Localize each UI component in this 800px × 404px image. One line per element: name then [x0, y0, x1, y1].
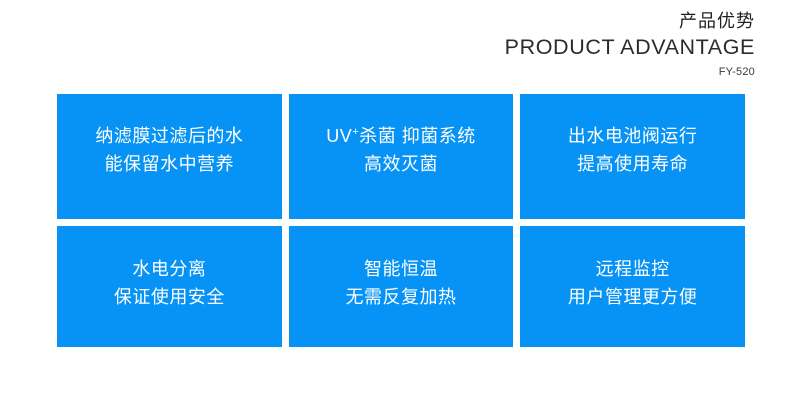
feature-card-line-1: 智能恒温	[364, 256, 438, 284]
feature-card-remote-monitoring[interactable]: 远程监控 用户管理更方便	[520, 226, 745, 347]
feature-card-line-2: 用户管理更方便	[568, 284, 698, 312]
header-block: 产品优势 PRODUCT ADVANTAGE FY-520	[505, 12, 755, 78]
feature-card-line-1: 水电分离	[132, 256, 206, 284]
uv-label: UV	[326, 126, 352, 146]
feature-card-smart-thermostat[interactable]: 智能恒温 无需反复加热	[289, 226, 514, 347]
feature-card-outlet-valve[interactable]: 出水电池阀运行 提高使用寿命	[520, 94, 745, 219]
feature-card-water-power-separation[interactable]: 水电分离 保证使用安全	[57, 226, 282, 347]
feature-card-line-2: 保证使用安全	[114, 284, 225, 312]
feature-card-line-1: UV+杀菌 抑菌系统	[326, 123, 475, 151]
page-title-cn: 产品优势	[505, 12, 755, 30]
feature-card-uv-sterilization[interactable]: UV+杀菌 抑菌系统 高效灭菌	[289, 94, 514, 219]
feature-card-line-2: 提高使用寿命	[577, 151, 688, 179]
feature-card-line-2: 无需反复加热	[345, 284, 456, 312]
feature-card-line-1: 出水电池阀运行	[568, 123, 698, 151]
feature-card-nanofiltration[interactable]: 纳滤膜过滤后的水 能保留水中营养	[57, 94, 282, 219]
uv-suffix-label: 杀菌 抑菌系统	[359, 126, 476, 146]
feature-card-grid: 纳滤膜过滤后的水 能保留水中营养 UV+杀菌 抑菌系统 高效灭菌 出水电池阀运行…	[57, 94, 745, 347]
feature-card-line-2: 能保留水中营养	[105, 151, 235, 179]
feature-card-line-2: 高效灭菌	[364, 151, 438, 179]
feature-card-line-1: 纳滤膜过滤后的水	[95, 123, 243, 151]
feature-card-line-1: 远程监控	[596, 256, 670, 284]
page-title-en: PRODUCT ADVANTAGE	[505, 37, 755, 59]
product-model-label: FY-520	[505, 67, 755, 78]
